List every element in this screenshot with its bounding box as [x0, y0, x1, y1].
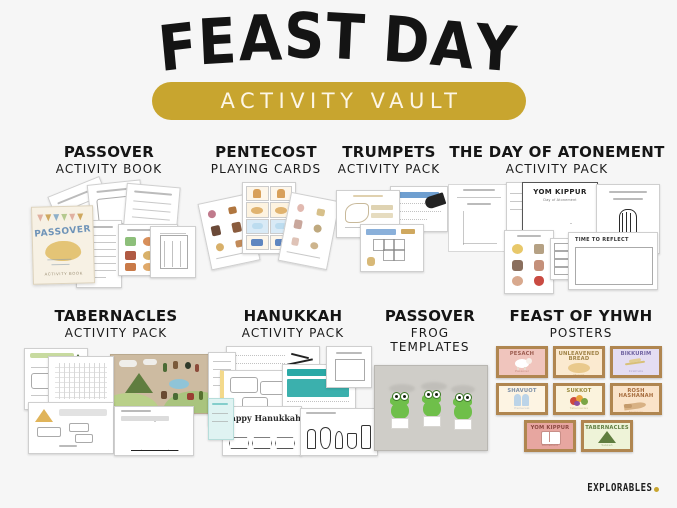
- poster-caption: Matzah: [573, 373, 584, 377]
- wheat-icon: [613, 357, 659, 369]
- bunting-decoration: [37, 214, 87, 223]
- scroll-icon: [527, 431, 573, 443]
- poster-yom-kippur: YOM KIPPUR Atonement: [524, 420, 576, 452]
- title-letter: S: [284, 6, 327, 70]
- product-subtitle: ACTIVITY PACK: [332, 162, 446, 176]
- product-title: PENTECOST: [196, 144, 336, 161]
- worksheet-page: [326, 346, 372, 388]
- tent-icon: [584, 431, 630, 443]
- product-passover-frog-templates[interactable]: PASSOVER FROG TEMPLATES: [374, 308, 486, 451]
- poster-caption: Tabernacles: [570, 406, 588, 410]
- product-subtitle: PLAYING CARDS: [196, 162, 336, 176]
- product-thumbnail: [22, 346, 210, 454]
- product-thumbnail: YOM KIPPUR Day of Atonement: [444, 182, 670, 302]
- poster-title: UNLEAVENED BREAD: [556, 352, 602, 362]
- product-subtitle: POSTERS: [492, 326, 670, 340]
- product-title: FEAST OF YHWH: [492, 308, 670, 325]
- lamb-icon: [499, 357, 545, 369]
- poster-bikkurim: BIKKURIM Firstfruits: [610, 346, 662, 378]
- cover-word: PASSOVER: [32, 224, 93, 240]
- product-thumbnail: PESACH Passover UNLEAVENED BREAD: [492, 346, 670, 458]
- product-subtitle: FROG: [374, 326, 486, 340]
- product-subtitle-line2: TEMPLATES: [374, 340, 486, 354]
- product-thumbnail: Happy Hanukkah: [208, 346, 378, 458]
- brand-dot-icon: [654, 487, 659, 492]
- worksheet-heading: YOM KIPPUR: [523, 188, 597, 196]
- poster-rosh-hashanah: ROSH HASHANAH Trumpets: [610, 383, 662, 415]
- product-subtitle: ACTIVITY BOOK: [24, 162, 194, 176]
- worksheet-page: [150, 226, 196, 278]
- product-title: HANUKKAH: [208, 308, 378, 325]
- product-title: TABERNACLES: [22, 308, 210, 325]
- poster-tabernacles: TABERNACLES Sukkah: [581, 420, 633, 452]
- header: FEASTDAY: [0, 14, 677, 72]
- product-feast-of-yhwh-posters[interactable]: FEAST OF YHWH POSTERS PESACH Passover: [492, 308, 670, 458]
- scene-illustration: [110, 354, 212, 414]
- title-letter: D: [381, 9, 433, 75]
- product-tabernacles-activity-pack[interactable]: TABERNACLES ACTIVITY PACK: [22, 308, 210, 454]
- poster-unleavened-bread: UNLEAVENED BREAD Matzah: [553, 346, 605, 378]
- product-thumbnail: PASSOVER ACTIVITY BOOK: [24, 182, 194, 302]
- tablets-icon: [499, 394, 545, 406]
- poster-caption: Firstfruits: [629, 369, 644, 373]
- worksheet-heading: Happy Hanukkah: [223, 413, 301, 423]
- title-letter: A: [238, 8, 284, 72]
- title-letter: F: [156, 15, 202, 82]
- product-title: TRUMPETS: [332, 144, 446, 161]
- title-letter: A: [428, 13, 478, 80]
- title-letter: E: [197, 11, 240, 76]
- poster-sukkot: SUKKOT Tabernacles: [553, 383, 605, 415]
- worksheet-page: [114, 406, 194, 456]
- worksheet-page: [448, 184, 510, 252]
- product-thumbnail: [332, 182, 446, 292]
- product-title: THE DAY OF ATONEMENT: [444, 144, 670, 161]
- playing-card: [246, 219, 269, 234]
- poster-shavuot: SHAVUOT Pentecost: [496, 383, 548, 415]
- product-hanukkah-activity-pack[interactable]: HANUKKAH ACTIVITY PACK: [208, 308, 378, 458]
- activity-vault-banner: ACTIVITY VAULT: [152, 82, 526, 120]
- worksheet-page: [504, 230, 554, 294]
- worksheet-subheading: Day of Atonement: [523, 198, 597, 202]
- poster-title: ROSH HASHANAH: [613, 389, 659, 399]
- poster-canvas: FEASTDAY ACTIVITY VAULT PASSOVER ACTIVIT…: [0, 0, 677, 508]
- worksheet-page: [28, 402, 114, 454]
- playing-card: [246, 186, 269, 201]
- worksheet-page: [300, 408, 378, 456]
- product-title: PASSOVER: [24, 144, 194, 161]
- poster-caption: Passover: [515, 369, 529, 373]
- product-subtitle: ACTIVITY PACK: [22, 326, 210, 340]
- poster-grid-row3: YOM KIPPUR Atonement TABERNACLES Sukka: [524, 420, 633, 452]
- shofar-icon: [613, 400, 659, 410]
- playing-card: [246, 235, 269, 250]
- brand-name: EXPLORABLES: [587, 481, 652, 494]
- brand-logo: EXPLORABLES: [573, 481, 659, 494]
- book-cover: PASSOVER ACTIVITY BOOK: [31, 205, 95, 285]
- poster-caption: Sukkah: [601, 443, 612, 447]
- product-trumpets-activity-pack[interactable]: TRUMPETS ACTIVITY PACK: [332, 144, 446, 292]
- title-letter: Y: [474, 17, 520, 83]
- product-subtitle: ACTIVITY PACK: [444, 162, 670, 176]
- product-subtitle: ACTIVITY PACK: [208, 326, 378, 340]
- worksheet-page: [208, 398, 234, 440]
- product-title: PASSOVER: [374, 308, 486, 325]
- banner-label: ACTIVITY VAULT: [216, 89, 463, 113]
- product-pentecost-playing-cards[interactable]: PENTECOST PLAYING CARDS: [196, 144, 336, 292]
- frog-photo: [374, 365, 488, 451]
- poster-caption: Atonement: [542, 443, 558, 447]
- poster-caption: Pentecost: [514, 406, 529, 410]
- worksheet-page: Happy Hanukkah: [222, 406, 302, 456]
- poster-pesach: PESACH Passover: [496, 346, 548, 378]
- matzah-icon: [556, 363, 602, 373]
- page-title: FEASTDAY: [0, 11, 677, 74]
- product-thumbnail: [196, 182, 336, 292]
- product-day-of-atonement-activity-pack[interactable]: THE DAY OF ATONEMENT ACTIVITY PACK YOM K…: [444, 144, 670, 302]
- worksheet-page: TIME TO REFLECT: [568, 232, 658, 290]
- poster-caption: Trumpets: [629, 410, 643, 414]
- title-letter: T: [325, 6, 368, 71]
- product-passover-activity-book[interactable]: PASSOVER ACTIVITY BOOK: [24, 144, 194, 302]
- cover-caption: ACTIVITY BOOK: [34, 270, 94, 277]
- product-thumbnail: [374, 361, 486, 451]
- playing-card: [246, 202, 269, 217]
- worksheet-page: [360, 224, 424, 272]
- fruit-icon: [556, 394, 602, 406]
- poster-grid: PESACH Passover UNLEAVENED BREAD: [496, 346, 662, 415]
- worksheet-heading: TIME TO REFLECT: [575, 237, 629, 243]
